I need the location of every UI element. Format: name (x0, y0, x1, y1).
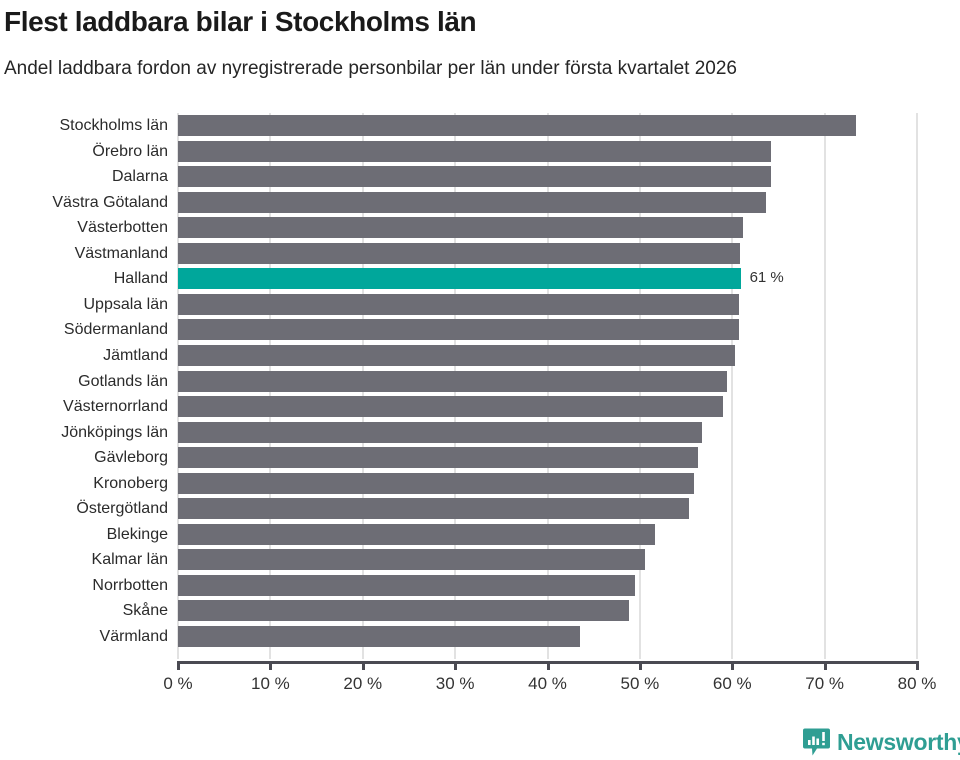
category-label: Jönköpings län (6, 424, 178, 442)
category-label: Norrbotten (6, 577, 178, 595)
chart-title: Flest laddbara bilar i Stockholms län (4, 6, 476, 38)
x-tick-60 (731, 661, 734, 670)
category-label: Västmanland (6, 245, 178, 263)
x-tick-label: 80 % (898, 674, 937, 694)
category-label: Stockholms län (6, 117, 178, 135)
x-tick-label: 50 % (621, 674, 660, 694)
category-label: Skåne (6, 602, 178, 620)
bar-gotlands-l-n[interactable] (178, 371, 727, 392)
x-tick-label: 30 % (436, 674, 475, 694)
bar-kalmar-l-n[interactable] (178, 549, 645, 570)
bar-row[interactable] (178, 166, 917, 187)
category-label: Gävleborg (6, 449, 178, 467)
bar-row[interactable] (178, 524, 917, 545)
bar-j-mtland[interactable] (178, 345, 735, 366)
bar-row[interactable] (178, 575, 917, 596)
x-tick-label: 10 % (251, 674, 290, 694)
bar-s-dermanland[interactable] (178, 319, 739, 340)
bar-value-label: 61 % (750, 269, 784, 286)
x-tick-label: 60 % (713, 674, 752, 694)
x-tick-50 (639, 661, 642, 670)
bar-row[interactable] (178, 626, 917, 647)
bar--sterg-tland[interactable] (178, 498, 689, 519)
bar-row[interactable] (178, 217, 917, 238)
category-label: Östergötland (6, 500, 178, 518)
category-label: Södermanland (6, 321, 178, 339)
category-axis: Stockholms länÖrebro länDalarnaVästra Gö… (0, 113, 178, 659)
x-tick-label: 20 % (343, 674, 382, 694)
bar-norrbotten[interactable] (178, 575, 635, 596)
bar-row[interactable] (178, 396, 917, 417)
category-label: Västernorrland (6, 398, 178, 416)
category-label: Örebro län (6, 143, 178, 161)
bar-row[interactable] (178, 371, 917, 392)
bar-row[interactable] (178, 600, 917, 621)
bar-v-sterbotten[interactable] (178, 217, 743, 238)
category-label: Västra Götaland (6, 194, 178, 212)
x-tick-label: 0 % (163, 674, 192, 694)
bar--rebro-l-n[interactable] (178, 141, 771, 162)
x-tick-0 (177, 661, 180, 670)
x-tick-label: 40 % (528, 674, 567, 694)
bar-row[interactable] (178, 473, 917, 494)
x-tick-label: 70 % (805, 674, 844, 694)
category-label: Uppsala län (6, 296, 178, 314)
newsworthy-bar-chart-bubble-icon (803, 728, 830, 757)
category-label: Jämtland (6, 347, 178, 365)
x-tick-20 (362, 661, 365, 670)
bar-stockholms-l-n[interactable] (178, 115, 856, 136)
newsworthy-wordmark: Newsworthy (837, 731, 960, 754)
bar-blekinge[interactable] (178, 524, 655, 545)
bar-j-nk-pings-l-n[interactable] (178, 422, 702, 443)
bar-row[interactable] (178, 549, 917, 570)
bar-row[interactable] (178, 243, 917, 264)
bar-uppsala-l-n[interactable] (178, 294, 739, 315)
bar-sk-ne[interactable] (178, 600, 629, 621)
x-tick-80 (916, 661, 919, 670)
category-label: Värmland (6, 628, 178, 646)
bar-row[interactable] (178, 422, 917, 443)
category-label: Kronoberg (6, 475, 178, 493)
bar-row[interactable] (178, 192, 917, 213)
bar-row[interactable] (178, 141, 917, 162)
chart-subtitle: Andel laddbara fordon av nyregistrerade … (4, 58, 737, 80)
category-label: Gotlands län (6, 373, 178, 391)
bar-kronoberg[interactable] (178, 473, 694, 494)
newsworthy-logo[interactable]: Newsworthy (803, 728, 960, 757)
x-tick-10 (269, 661, 272, 670)
bar-g-vleborg[interactable] (178, 447, 698, 468)
bar-row[interactable] (178, 345, 917, 366)
bar-v-rmland[interactable] (178, 626, 580, 647)
bar-row[interactable] (178, 447, 917, 468)
chart-container: Flest laddbara bilar i Stockholms län An… (0, 0, 960, 760)
bar-halland[interactable] (178, 268, 741, 289)
bar-dalarna[interactable] (178, 166, 771, 187)
plot-area: 61 % (178, 113, 917, 659)
bar-v-stra-g-taland[interactable] (178, 192, 766, 213)
bar-row[interactable] (178, 115, 917, 136)
category-label: Dalarna (6, 168, 178, 186)
category-label: Kalmar län (6, 551, 178, 569)
x-tick-40 (547, 661, 550, 670)
x-tick-70 (824, 661, 827, 670)
bar-row[interactable]: 61 % (178, 268, 917, 289)
bar-row[interactable] (178, 294, 917, 315)
bar-v-sternorrland[interactable] (178, 396, 723, 417)
category-label: Halland (6, 270, 178, 288)
bar-v-stmanland[interactable] (178, 243, 740, 264)
bar-row[interactable] (178, 319, 917, 340)
category-label: Blekinge (6, 526, 178, 544)
bar-row[interactable] (178, 498, 917, 519)
x-tick-30 (454, 661, 457, 670)
category-label: Västerbotten (6, 219, 178, 237)
